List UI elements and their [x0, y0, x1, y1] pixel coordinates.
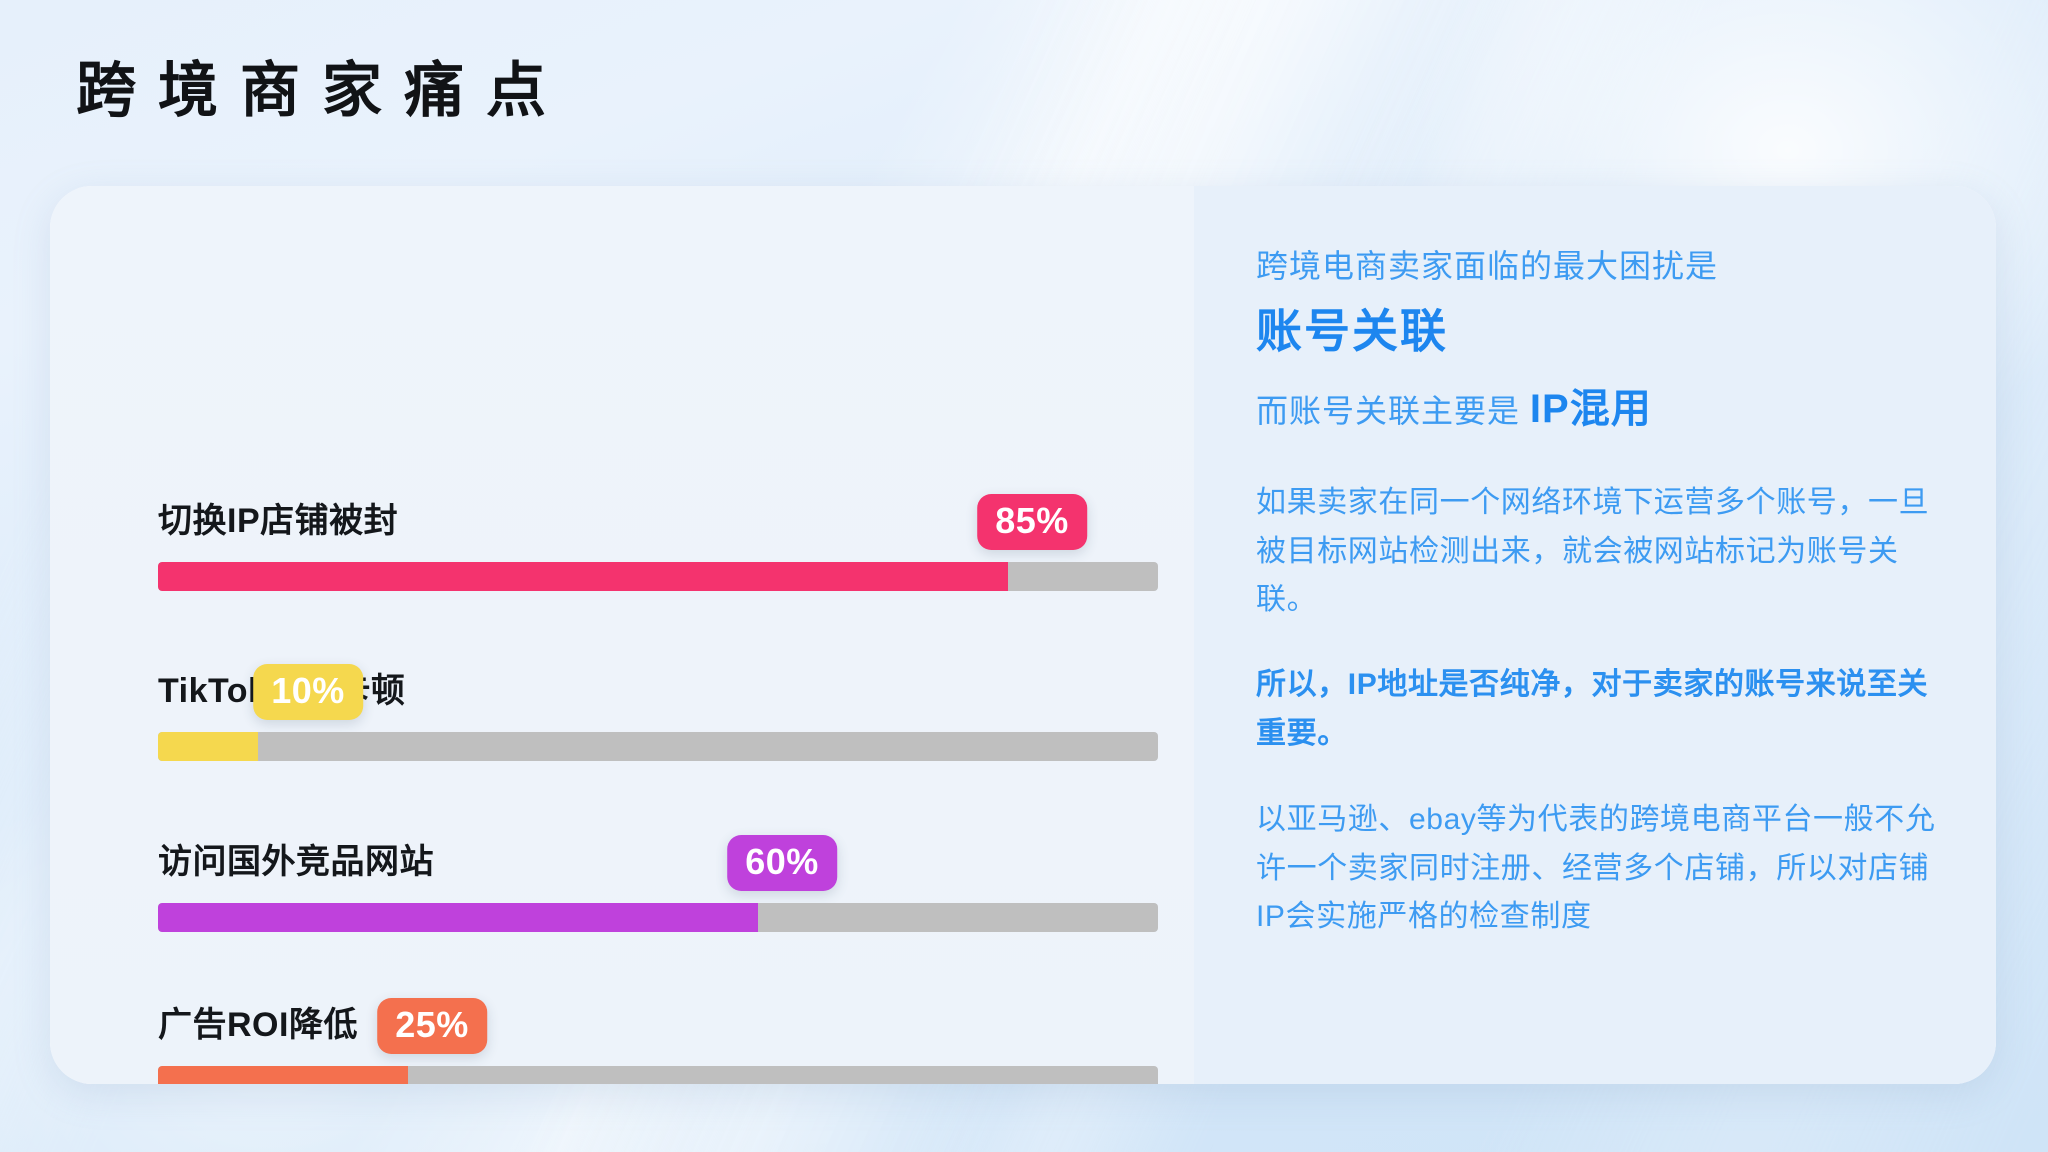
chart-panel: 切换IP店铺被封 85% TikTok直播卡顿 10%: [50, 186, 1194, 1084]
intro-text: 跨境电商卖家面临的最大困扰是: [1256, 242, 1938, 290]
bar-fill: [158, 1066, 408, 1084]
bar-header: TikTok直播卡顿 10%: [158, 646, 1158, 718]
bar-fill: [158, 562, 1008, 591]
bar-header: 访问国外竞品网站 60%: [158, 817, 1158, 889]
explanation-panel: 跨境电商卖家面临的最大困扰是 账号关联 而账号关联主要是 IP混用 如果卖家在同…: [1194, 186, 1996, 1084]
paragraph-strong: 所以，IP地址是否纯净，对于卖家的账号来说至关重要。: [1256, 661, 1938, 758]
bar-row: 切换IP店铺被封 85%: [158, 476, 1158, 591]
bar-header: 切换IP店铺被封 85%: [158, 476, 1158, 548]
paragraph-body: 如果卖家在同一个网络环境下运营多个账号，一旦被目标网站检测出来，就会被网站标记为…: [1256, 479, 1938, 625]
bar-header: 广告ROI降低 25%: [158, 980, 1158, 1052]
bar-fill: [158, 903, 758, 932]
subline-emphasis: IP混用: [1530, 387, 1652, 431]
bar-track: [158, 732, 1158, 761]
bar-label: 访问国外竞品网站: [158, 834, 434, 883]
bar-value-badge: 60%: [727, 835, 837, 891]
content-card: 切换IP店铺被封 85% TikTok直播卡顿 10%: [50, 186, 1996, 1084]
bar-row: 广告ROI降低 25%: [158, 980, 1158, 1084]
bar-label: 切换IP店铺被封: [158, 493, 398, 542]
bar-chart: 切换IP店铺被封 85% TikTok直播卡顿 10%: [50, 186, 1194, 1084]
bar-label: 广告ROI降低: [158, 997, 358, 1046]
page-title: 跨境商家痛点: [76, 58, 568, 124]
headline-text: 账号关联: [1256, 304, 1938, 359]
bar-track: [158, 903, 1158, 932]
bar-value-badge: 25%: [377, 998, 487, 1054]
subline-prefix: 而账号关联主要是: [1256, 393, 1530, 429]
bar-row: 访问国外竞品网站 60%: [158, 817, 1158, 932]
bar-value-badge: 85%: [977, 494, 1087, 550]
subline: 而账号关联主要是 IP混用: [1256, 381, 1938, 437]
bar-value-badge: 10%: [253, 664, 363, 720]
bar-row: TikTok直播卡顿 10%: [158, 646, 1158, 761]
bar-fill: [158, 732, 258, 761]
slide-canvas: 跨境商家痛点 切换IP店铺被封 85% TikTok直播卡顿 10%: [0, 0, 2048, 1152]
bar-track: [158, 1066, 1158, 1084]
bar-track: [158, 562, 1158, 591]
paragraph-tail: 以亚马逊、ebay等为代表的跨境电商平台一般不允许一个卖家同时注册、经营多个店铺…: [1256, 796, 1938, 942]
